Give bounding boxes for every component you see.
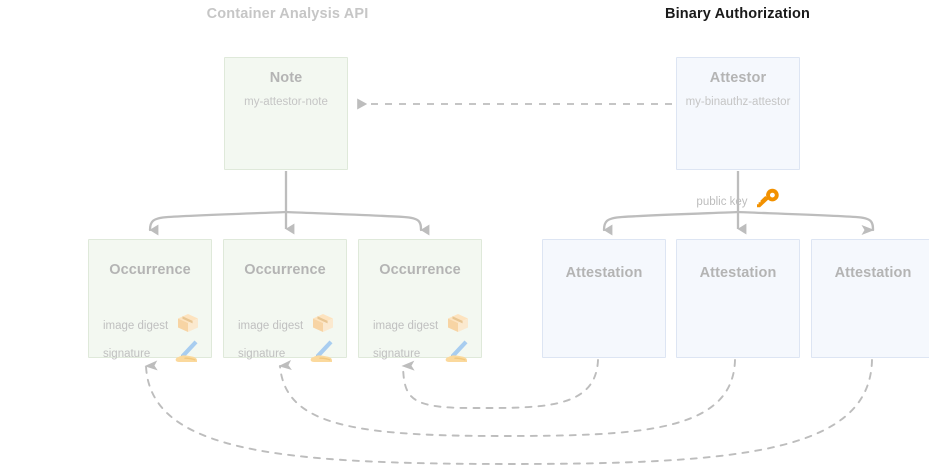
diagram-canvas: Container Analysis API Binary Authorizat…	[0, 0, 929, 468]
occurrence-box[interactable]: Occurrence image digest signature	[88, 239, 212, 358]
attestation-title: Attestation	[677, 265, 799, 281]
occurrence-title: Occurrence	[89, 262, 211, 278]
public-key-label: public key	[696, 196, 747, 208]
section-title-binary-authorization: Binary Authorization	[565, 6, 910, 22]
attestation-title: Attestation	[543, 265, 665, 281]
occurrence-title: Occurrence	[224, 262, 346, 278]
occurrence-signature-row: signature	[238, 339, 336, 368]
writing-hand-icon	[443, 339, 471, 368]
occurrence-image-digest-row: image digest	[103, 312, 201, 339]
section-title-container-analysis: Container Analysis API	[115, 6, 460, 22]
occurrence-signature-row: signature	[103, 339, 201, 368]
attestation-title: Attestation	[812, 265, 929, 281]
occurrence-box[interactable]: Occurrence image digest signature	[358, 239, 482, 358]
writing-hand-icon	[173, 339, 201, 368]
image-digest-label: image digest	[238, 320, 303, 332]
signature-label: signature	[373, 348, 420, 360]
signature-label: signature	[238, 348, 285, 360]
image-digest-label: image digest	[103, 320, 168, 332]
attestor-box[interactable]: Attestor my-binauthz-attestor public key	[676, 57, 800, 170]
attestation-box[interactable]: Attestation	[542, 239, 666, 358]
attestor-public-key-row: public key	[677, 188, 799, 216]
package-icon	[310, 312, 336, 339]
attestation-box[interactable]: Attestation	[676, 239, 800, 358]
occurrence-image-digest-row: image digest	[238, 312, 336, 339]
note-title: Note	[225, 70, 347, 86]
attestation-box[interactable]: Attestation	[811, 239, 929, 358]
wire-attestation-3-to-occurrence-1	[146, 360, 872, 464]
signature-label: signature	[103, 348, 150, 360]
attestor-title: Attestor	[677, 70, 799, 86]
occurrence-signature-row: signature	[373, 339, 471, 368]
image-digest-label: image digest	[373, 320, 438, 332]
note-name: my-attestor-note	[225, 96, 347, 108]
key-icon	[755, 188, 780, 216]
attestor-name: my-binauthz-attestor	[677, 96, 799, 108]
occurrence-title: Occurrence	[359, 262, 481, 278]
occurrence-image-digest-row: image digest	[373, 312, 471, 339]
occurrence-box[interactable]: Occurrence image digest signature	[223, 239, 347, 358]
package-icon	[445, 312, 471, 339]
wire-note-to-occurrences	[150, 171, 421, 230]
writing-hand-icon	[308, 339, 336, 368]
package-icon	[175, 312, 201, 339]
note-box[interactable]: Note my-attestor-note	[224, 57, 348, 170]
wire-attestation-2-to-occurrence-2	[280, 360, 735, 436]
